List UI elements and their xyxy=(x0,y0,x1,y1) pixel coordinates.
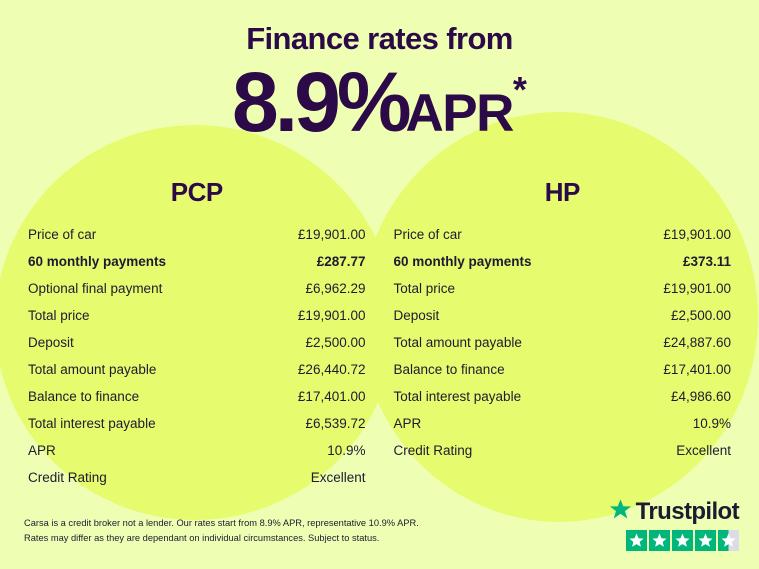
footer: Carsa is a credit broker not a lender. O… xyxy=(0,481,759,569)
row-label: Balance to finance xyxy=(394,362,505,377)
row-label: APR xyxy=(394,416,422,431)
row-value: £373.11 xyxy=(683,254,731,269)
row-value: £19,901.00 xyxy=(298,227,366,242)
row-label: Balance to finance xyxy=(28,389,139,404)
star-icon-3 xyxy=(672,530,693,551)
row-label: APR xyxy=(28,443,56,458)
finance-comparison-tables: PCP Price of car£19,901.00 60 monthly pa… xyxy=(0,177,759,497)
table-row: Price of car£19,901.00 xyxy=(28,227,366,254)
table-row: Deposit£2,500.00 xyxy=(28,335,366,362)
trustpilot-stars xyxy=(626,530,739,551)
row-label: Total price xyxy=(394,281,456,296)
plan-pcp: PCP Price of car£19,901.00 60 monthly pa… xyxy=(14,177,380,497)
row-value: £26,440.72 xyxy=(298,362,366,377)
table-row: APR10.9% xyxy=(28,443,366,470)
rate-value: 8.9% xyxy=(232,60,407,144)
row-label: Credit Rating xyxy=(394,443,473,458)
table-row: Optional final payment£6,962.29 xyxy=(28,281,366,308)
row-value: £2,500.00 xyxy=(671,308,731,323)
row-label: Price of car xyxy=(28,227,96,242)
header: Finance rates from 8.9% APR * xyxy=(0,0,759,144)
table-row: Total interest payable£4,986.60 xyxy=(394,389,732,416)
table-row: Deposit£2,500.00 xyxy=(394,308,732,335)
row-label: Optional final payment xyxy=(28,281,162,296)
row-value: £6,539.72 xyxy=(305,416,365,431)
row-value: £2,500.00 xyxy=(305,335,365,350)
plan-rows-pcp: Price of car£19,901.00 60 monthly paymen… xyxy=(28,227,366,497)
row-label: Deposit xyxy=(28,335,74,350)
table-row: APR10.9% xyxy=(394,416,732,443)
table-row: Balance to finance£17,401.00 xyxy=(28,389,366,416)
table-row: Balance to finance£17,401.00 xyxy=(394,362,732,389)
row-label: 60 monthly payments xyxy=(28,254,166,269)
row-value: £19,901.00 xyxy=(298,308,366,323)
row-label: Deposit xyxy=(394,308,440,323)
page-title: Finance rates from xyxy=(0,0,759,54)
poster-stage: Finance rates from 8.9% APR * PCP Price … xyxy=(0,0,759,569)
table-row: Total price£19,901.00 xyxy=(394,281,732,308)
row-value: £6,962.29 xyxy=(305,281,365,296)
row-label: 60 monthly payments xyxy=(394,254,532,269)
row-label: Price of car xyxy=(394,227,462,242)
table-row: Total price£19,901.00 xyxy=(28,308,366,335)
trustpilot-wordmark: Trustpilot xyxy=(636,498,739,526)
plan-hp: HP Price of car£19,901.00 60 monthly pay… xyxy=(380,177,746,497)
trustpilot-logo: Trustpilot xyxy=(609,498,739,526)
table-row: Total amount payable£24,887.60 xyxy=(394,335,732,362)
plan-rows-hp: Price of car£19,901.00 60 monthly paymen… xyxy=(394,227,732,470)
row-label: Total amount payable xyxy=(394,335,522,350)
row-label: Total amount payable xyxy=(28,362,156,377)
plan-title-pcp: PCP xyxy=(28,177,366,208)
star-icon-2 xyxy=(649,530,670,551)
table-row: 60 monthly payments£373.11 xyxy=(394,254,732,281)
star-icon-1 xyxy=(626,530,647,551)
headline-rate: 8.9% APR * xyxy=(0,60,759,144)
rate-asterisk: * xyxy=(513,72,527,108)
row-value: 10.9% xyxy=(327,443,365,458)
row-value: £24,887.60 xyxy=(663,335,731,350)
row-value: Excellent xyxy=(676,443,731,458)
table-row: Price of car£19,901.00 xyxy=(394,227,732,254)
rate-unit: APR xyxy=(406,87,513,140)
disclaimer-text: Carsa is a credit broker not a lender. O… xyxy=(24,516,419,551)
row-label: Total interest payable xyxy=(394,389,522,404)
row-value: £17,401.00 xyxy=(298,389,366,404)
star-icon-5-half xyxy=(718,530,739,551)
row-value: £287.77 xyxy=(317,254,366,269)
row-value: £19,901.00 xyxy=(663,281,731,296)
table-row: Credit RatingExcellent xyxy=(394,443,732,470)
row-value: £19,901.00 xyxy=(663,227,731,242)
row-label: Total price xyxy=(28,308,90,323)
trustpilot-star-icon xyxy=(609,498,632,526)
star-icon-4 xyxy=(695,530,716,551)
row-value: £4,986.60 xyxy=(671,389,731,404)
table-row: Total amount payable£26,440.72 xyxy=(28,362,366,389)
plan-title-hp: HP xyxy=(394,177,732,208)
trustpilot-rating[interactable]: Trustpilot xyxy=(609,498,739,551)
row-value: 10.9% xyxy=(693,416,731,431)
row-value: £17,401.00 xyxy=(663,362,731,377)
row-label: Total interest payable xyxy=(28,416,156,431)
table-row: 60 monthly payments£287.77 xyxy=(28,254,366,281)
table-row: Total interest payable£6,539.72 xyxy=(28,416,366,443)
